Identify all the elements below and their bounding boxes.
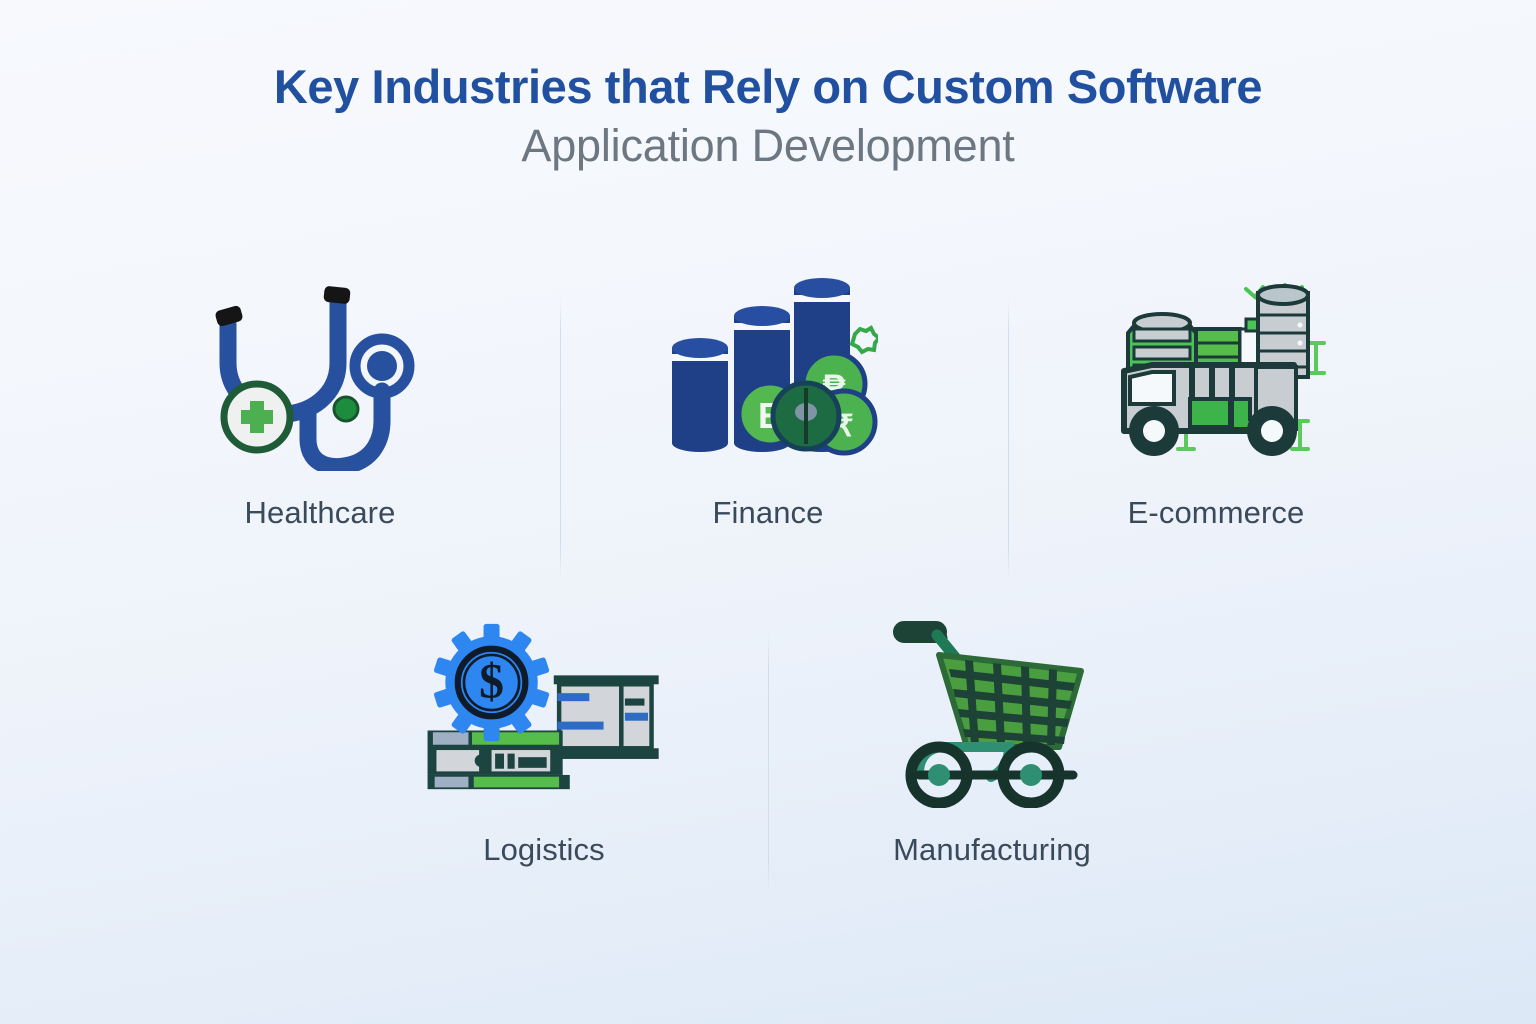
industry-label: E-commerce [1128, 495, 1305, 531]
industries-row-2: $ Logistics [96, 610, 1440, 910]
delivery-truck-icon [1096, 268, 1336, 473]
industry-card-healthcare[interactable]: Healthcare [96, 268, 544, 580]
industry-label: Finance [713, 495, 824, 531]
industries-row-1: Healthcare [96, 268, 1440, 580]
svg-text:$: $ [479, 653, 504, 708]
stethoscope-icon [200, 268, 440, 473]
page-title: Key Industries that Rely on Custom Softw… [0, 58, 1536, 174]
bar-chart-coins-icon: ₱ E ₹ [648, 268, 888, 473]
industry-label: Logistics [483, 832, 605, 868]
infographic-slide: Key Industries that Rely on Custom Softw… [0, 0, 1536, 1024]
industry-label: Manufacturing [893, 832, 1091, 868]
industry-card-finance[interactable]: ₱ E ₹ [544, 268, 992, 580]
title-line-2: Application Development [0, 119, 1536, 174]
industries-grid: Healthcare [96, 268, 1440, 910]
industry-card-manufacturing[interactable]: Manufacturing [768, 610, 1216, 910]
industry-label: Healthcare [245, 495, 396, 531]
gear-machinery-icon: $ [424, 610, 664, 810]
industry-card-ecommerce[interactable]: E-commerce [992, 268, 1440, 580]
title-line-1: Key Industries that Rely on Custom Softw… [0, 58, 1536, 115]
industry-card-logistics[interactable]: $ Logistics [320, 610, 768, 910]
shopping-cart-icon [872, 610, 1112, 810]
